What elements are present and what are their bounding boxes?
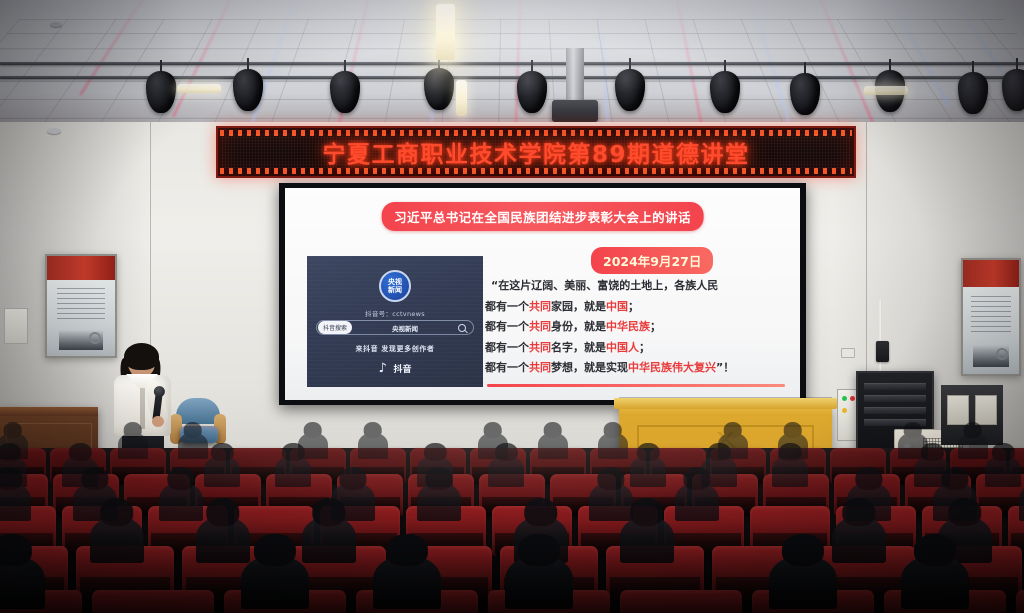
search-tag-label: 抖音搜索 <box>318 321 352 334</box>
audience-member <box>241 556 309 609</box>
audience-head <box>964 422 983 438</box>
audience-member <box>769 556 837 609</box>
body-text-run: ”！ <box>716 361 734 374</box>
audience-head <box>904 422 923 438</box>
audience-member <box>373 556 441 609</box>
wall-control-panel[interactable] <box>4 308 28 344</box>
audience-member <box>958 433 988 459</box>
audience-head <box>779 443 801 462</box>
audience-head <box>724 422 743 438</box>
poster-header-band <box>47 256 115 280</box>
slide-body-line: 都有一个共同身份，就是中华民族； <box>485 317 800 338</box>
audience-head <box>782 534 824 566</box>
logo-line-2: 新闻 <box>388 286 402 294</box>
presenter-hair <box>124 343 159 370</box>
audience-head <box>82 467 109 490</box>
audience-member <box>488 456 524 487</box>
audience-head <box>942 467 969 490</box>
audience-member <box>0 483 31 521</box>
audience-head <box>206 498 239 526</box>
led-banner-text: 宁夏工商职业技术学院第89期道德讲堂 <box>218 128 854 176</box>
audience-head <box>69 443 91 462</box>
audience-member <box>358 433 388 459</box>
audience-head <box>992 443 1014 462</box>
slide-body-line: “在这片辽阔、美丽、富饶的土地上，各族人民 <box>485 276 800 297</box>
wall-poster-left <box>45 254 117 358</box>
body-text-run: ； <box>639 341 650 354</box>
audience-head <box>124 422 143 438</box>
audience-head <box>254 534 296 566</box>
projection-screen-frame: 习近平总书记在全国民族团结进步表彰大会上的讲话 2024年9月27日 “在这片辽… <box>279 183 806 405</box>
audience-head <box>211 443 233 462</box>
power-outlet-icon <box>841 348 855 358</box>
audience-head <box>364 422 383 438</box>
body-text-run: 名字，就是 <box>551 341 606 354</box>
douyin-search-bar[interactable]: 抖音搜索 央视新闻 <box>316 320 474 335</box>
search-icon <box>458 324 466 332</box>
poster-body <box>47 280 115 356</box>
status-led-green <box>842 396 847 401</box>
audience-member <box>275 456 311 487</box>
poster-body <box>963 287 1019 374</box>
douyin-brand-lockup: ♪ 抖音 <box>307 362 483 375</box>
rack-slot <box>864 407 926 414</box>
logo-line-1: 央视 <box>388 278 402 286</box>
highlighted-keyword: 中国人 <box>606 341 639 354</box>
audience-member <box>90 517 144 563</box>
douyin-video-card: 央视 新闻 抖音号：cctvnews 抖音搜索 央视新闻 来抖音 发现更多创作者… <box>307 256 483 387</box>
audience-head <box>312 498 345 526</box>
poster-text-lines <box>971 296 1011 332</box>
slide-body-line: 都有一个共同名字，就是中国人； <box>485 338 800 359</box>
body-text-run: “在这片辽阔、美丽、富饶的土地上，各族人民 <box>491 279 718 292</box>
highlighted-keyword: 中华民族伟大复兴 <box>628 361 716 374</box>
audience-member <box>538 433 568 459</box>
audience-member <box>832 517 886 563</box>
audience-head <box>637 443 659 462</box>
poster-text-lines <box>57 288 106 320</box>
highlighted-keyword: 中华民族 <box>606 320 650 333</box>
audience-head <box>0 534 32 566</box>
lectern-top <box>614 398 837 409</box>
body-text-run: 家园，就是 <box>551 300 606 313</box>
audience-head <box>524 498 557 526</box>
slide-underline-bar <box>487 384 785 387</box>
audience-head <box>304 422 323 438</box>
body-text-run: ； <box>628 300 639 313</box>
highlighted-keyword: 共同 <box>529 320 551 333</box>
audience-head <box>914 534 956 566</box>
audience-head <box>684 467 711 490</box>
ceiling <box>0 0 1024 132</box>
audience-member <box>178 433 208 459</box>
cctv-news-logo-icon: 央视 新闻 <box>379 270 411 302</box>
highlighted-keyword: 共同 <box>529 361 551 374</box>
audience-member <box>901 556 969 609</box>
audience-head <box>948 498 981 526</box>
audience-member <box>589 483 633 521</box>
body-text-run: 身份，就是 <box>551 320 606 333</box>
body-text-run: 都有一个 <box>485 361 529 374</box>
body-text-run: 梦想，就是实现 <box>551 361 628 374</box>
audience-member <box>0 556 45 609</box>
audience-head <box>4 422 23 438</box>
douyin-brand-text: 抖音 <box>393 362 411 375</box>
audience-head <box>630 498 663 526</box>
audience-head <box>0 443 20 462</box>
wall-poster-right-near <box>961 258 1021 376</box>
led-marquee-banner: 宁夏工商职业技术学院第89期道德讲堂 <box>216 126 856 178</box>
status-led-amber <box>842 408 847 413</box>
slide-body-line: 都有一个共同梦想，就是实现中华民族伟大复兴”！ <box>485 358 800 379</box>
projection-screen: 习近平总书记在全国民族团结进步表彰大会上的讲话 2024年9月27日 “在这片辽… <box>285 188 800 400</box>
audience-head <box>386 534 428 566</box>
audience-head <box>784 422 803 438</box>
highlighted-keyword: 中国 <box>606 300 628 313</box>
audience-member <box>630 456 666 487</box>
rack-slot <box>864 395 926 402</box>
wall-sensor-icon <box>47 128 61 134</box>
audience-member <box>302 517 356 563</box>
audience-head <box>544 422 563 438</box>
search-query-text: 央视新闻 <box>352 323 458 333</box>
audience-member <box>985 456 1021 487</box>
audience-head <box>518 534 560 566</box>
audience-head <box>282 443 304 462</box>
audience-head <box>842 498 875 526</box>
desk-top-edge <box>0 407 98 416</box>
status-led-red <box>850 396 855 401</box>
audience-member <box>598 433 628 459</box>
audience-head <box>0 467 23 490</box>
audience-member <box>196 517 250 563</box>
audience-head <box>604 422 623 438</box>
poster-header-band <box>963 260 1019 287</box>
audience-head <box>424 443 446 462</box>
audience-member <box>118 433 148 459</box>
presenter-hand <box>152 416 164 427</box>
body-text-run: 都有一个 <box>485 320 529 333</box>
audience-head <box>856 467 883 490</box>
slide-date-badge: 2024年9月27日 <box>591 247 713 274</box>
slide-body-line: 都有一个共同家园，就是中国； <box>485 297 800 318</box>
slide-body-text: “在这片辽阔、美丽、富饶的土地上，各族人民都有一个共同家园，就是中国；都有一个共… <box>485 276 800 379</box>
auditorium-seat[interactable] <box>92 590 214 613</box>
audience-head <box>495 443 517 462</box>
cabinet-unit <box>947 395 969 425</box>
audience-member <box>620 517 674 563</box>
auditorium-seat[interactable] <box>1016 590 1024 613</box>
audience-head <box>598 467 625 490</box>
auditorium-seat[interactable] <box>620 590 742 613</box>
audience-member <box>204 456 240 487</box>
ceiling-shading <box>0 0 1024 132</box>
music-note-icon: ♪ <box>378 363 389 375</box>
douyin-tagline: 来抖音 发现更多创作者 <box>307 344 483 354</box>
audience-head <box>184 422 203 438</box>
audience-member <box>675 483 719 521</box>
audience-member <box>505 556 573 609</box>
audience-member <box>159 483 203 521</box>
audience-head <box>484 422 503 438</box>
cabinet-unit <box>975 395 997 425</box>
body-text-run: 都有一个 <box>485 300 529 313</box>
highlighted-keyword: 共同 <box>529 341 551 354</box>
wall-speaker-icon <box>876 341 889 362</box>
audience-head <box>708 443 730 462</box>
poster-seal-icon <box>996 348 1008 360</box>
audience-head <box>921 443 943 462</box>
audience-head <box>100 498 133 526</box>
audience-head <box>168 467 195 490</box>
highlighted-keyword: 共同 <box>529 300 551 313</box>
lecture-hall-photo: 宁夏工商职业技术学院第89期道德讲堂 习近平总书记在全国民族团结进步表彰大会上的… <box>0 0 1024 613</box>
audience-head <box>426 467 453 490</box>
rack-slot <box>864 383 926 390</box>
slide-title: 习近平总书记在全国民族团结进步表彰大会上的讲话 <box>381 202 704 231</box>
audience-member <box>417 483 461 521</box>
douyin-handle: 抖音号：cctvnews <box>307 308 483 318</box>
body-text-run: ； <box>650 320 661 333</box>
body-text-run: 都有一个 <box>485 341 529 354</box>
audience-area <box>0 448 1024 613</box>
audience-member <box>772 456 808 487</box>
audience-head <box>340 467 367 490</box>
